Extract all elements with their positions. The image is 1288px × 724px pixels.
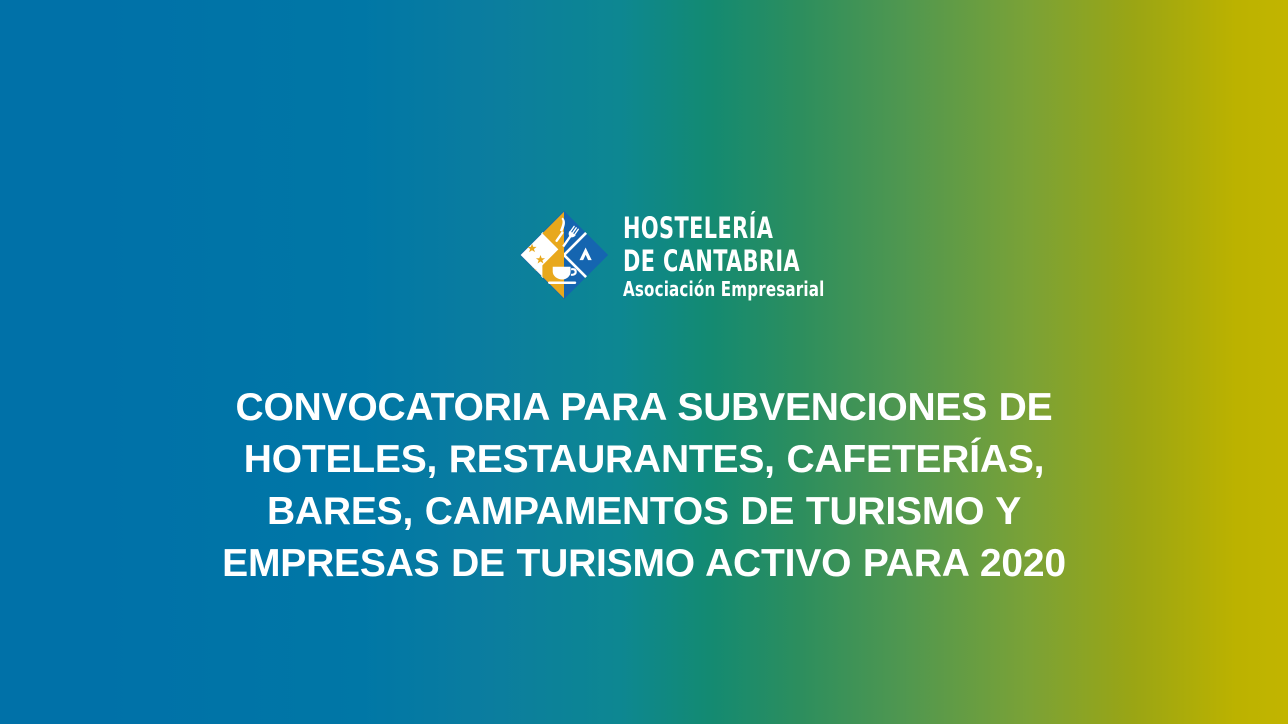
- hosteleria-de-cantabria-diamond-logo-icon: [517, 208, 611, 302]
- promotional-banner: HOSTELERÍA DE CANTABRIA Asociación Empre…: [0, 0, 1288, 724]
- logo-wordmark-line-2: DE CANTABRIA: [623, 247, 815, 276]
- organization-logo: HOSTELERÍA DE CANTABRIA Asociación Empre…: [517, 203, 771, 307]
- banner-headline: CONVOCATORIA PARA SUBVENCIONES DE HOTELE…: [0, 382, 1288, 590]
- headline-line-4: EMPRESAS DE TURISMO ACTIVO PARA 2020: [0, 538, 1288, 590]
- logo-wordmark-tagline: Asociación Empresarial: [623, 279, 824, 299]
- logo-wordmark: HOSTELERÍA DE CANTABRIA Asociación Empre…: [623, 212, 863, 299]
- logo-wordmark-line-1: HOSTELERÍA: [623, 214, 815, 243]
- headline-line-3: BARES, CAMPAMENTOS DE TURISMO Y: [0, 486, 1288, 538]
- headline-line-1: CONVOCATORIA PARA SUBVENCIONES DE: [0, 382, 1288, 434]
- headline-line-2: HOTELES, RESTAURANTES, CAFETERÍAS,: [0, 434, 1288, 486]
